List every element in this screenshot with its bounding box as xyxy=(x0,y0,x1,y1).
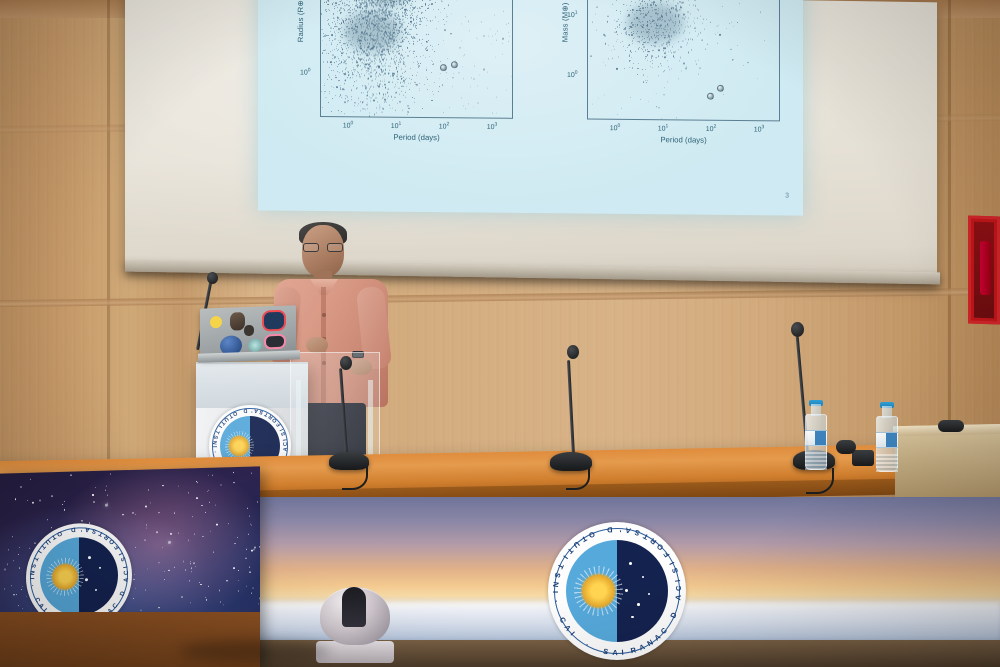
star xyxy=(251,550,253,552)
iac-logo-char: ' xyxy=(81,525,83,532)
star xyxy=(252,588,253,589)
star xyxy=(95,487,96,488)
star xyxy=(20,486,22,488)
iac-logo-char: N xyxy=(211,440,218,445)
glasses-lens-right xyxy=(327,243,343,252)
star xyxy=(219,590,220,591)
star xyxy=(238,590,239,591)
iac-logo-char: S xyxy=(280,431,287,436)
star xyxy=(13,594,14,595)
star xyxy=(207,491,208,492)
star xyxy=(183,561,184,562)
iac-logo-char: T xyxy=(31,556,39,562)
iac-logo-char: F xyxy=(275,421,282,427)
y-tick-left-0: 100 xyxy=(300,67,311,76)
iac-logo-char: S xyxy=(29,563,37,569)
sticker-pink-outline xyxy=(264,334,286,350)
iac-logo-char: D xyxy=(607,525,613,534)
highlighted-planet-marker xyxy=(717,85,724,92)
iac-logo-char: O xyxy=(588,530,597,540)
star xyxy=(237,536,238,537)
iac-logo-char: D xyxy=(71,526,76,533)
iac-logo-char: I xyxy=(673,579,682,582)
star xyxy=(158,512,159,513)
star xyxy=(220,601,221,602)
iac-logo-char: T xyxy=(213,429,220,435)
star xyxy=(92,494,93,495)
star xyxy=(188,540,189,541)
iac-logo-char: · xyxy=(29,584,36,587)
iac-logo-char: I xyxy=(211,446,217,448)
chart-panel-radius: Radius (R⊕) Period (days) 100 101 102 10… xyxy=(276,0,521,163)
iac-logo-char: C xyxy=(674,586,683,591)
star xyxy=(209,502,210,503)
iac-logo-char: O xyxy=(232,410,238,417)
star xyxy=(247,507,248,508)
star xyxy=(188,492,189,493)
iac-logo-char: D xyxy=(243,407,247,413)
iac-logo-char: I xyxy=(28,578,35,580)
star xyxy=(238,580,239,581)
star xyxy=(162,547,163,548)
iac-logo-char: D xyxy=(119,590,127,597)
iac-logo-char: I xyxy=(118,551,125,556)
star xyxy=(251,472,252,473)
star xyxy=(156,531,158,533)
star xyxy=(220,485,221,486)
wall-panel-seam xyxy=(107,0,110,470)
sticker-apple xyxy=(244,325,254,336)
star xyxy=(30,479,31,480)
iac-logo-char: O xyxy=(56,529,63,537)
bottle-label-blue-block xyxy=(815,431,826,445)
iac-logo-char: A xyxy=(283,447,290,452)
star xyxy=(22,608,23,609)
iac-logo-char: S xyxy=(633,528,641,538)
side-desk xyxy=(895,424,1000,506)
star xyxy=(205,597,206,598)
star xyxy=(93,501,94,502)
iac-logo-char: N xyxy=(646,638,655,648)
star xyxy=(134,573,135,574)
star xyxy=(193,562,195,564)
star xyxy=(197,482,198,483)
star xyxy=(233,472,234,473)
star xyxy=(133,579,134,580)
iac-logo-char: I xyxy=(569,630,577,638)
x-tick-left-0: 100 xyxy=(343,120,354,129)
fire-extinguisher-icon xyxy=(980,241,991,295)
iac-logo-char: A xyxy=(624,525,631,535)
iac-logo-char: T xyxy=(642,532,650,542)
iac-logo-char: C xyxy=(283,442,289,446)
iac-logo-char: C xyxy=(659,626,669,636)
star xyxy=(208,490,209,491)
star xyxy=(192,516,193,517)
iac-logo-char: T xyxy=(580,534,588,544)
x-tick-left-1: 101 xyxy=(391,120,402,129)
star xyxy=(233,567,235,569)
star xyxy=(223,605,224,606)
star xyxy=(135,513,136,514)
star xyxy=(148,489,149,490)
iac-logo-char: T xyxy=(39,543,47,550)
star xyxy=(70,475,71,476)
star xyxy=(19,547,20,548)
star xyxy=(245,558,246,559)
star xyxy=(249,566,250,567)
iac-logo-char: I xyxy=(36,549,43,554)
desk-accessory xyxy=(938,420,964,432)
iac-logo-char: · xyxy=(584,640,591,649)
iac-logo-char: T xyxy=(566,546,576,555)
banner-iac-logo: INSTITUTO D'ASTROFISICA D CANARIAS · IAC… xyxy=(548,522,686,660)
x-tick-right-0: 100 xyxy=(610,122,621,131)
star xyxy=(233,482,234,483)
star xyxy=(213,552,214,553)
plot-frame-radius xyxy=(320,0,513,119)
mic-head xyxy=(567,345,579,359)
iac-logo-char: C xyxy=(123,571,130,576)
star xyxy=(158,607,159,608)
star xyxy=(196,497,198,499)
iac-logo-char: · xyxy=(211,451,217,454)
iac-logo-char: R xyxy=(630,645,637,655)
microphone-capsule-case[interactable] xyxy=(836,440,856,454)
star xyxy=(15,499,16,500)
star xyxy=(238,570,239,571)
star xyxy=(190,561,191,562)
iac-logo-char: I xyxy=(621,648,624,657)
star xyxy=(146,524,147,525)
iac-logo-char: F xyxy=(113,543,121,550)
iac-logo-char: I xyxy=(282,439,288,441)
slide-page-number: 3 xyxy=(785,192,789,199)
star xyxy=(22,586,23,587)
y-tick-right-1: 101 xyxy=(567,10,578,19)
sticker-robot-red-ring xyxy=(262,310,286,332)
star xyxy=(200,584,201,585)
y-axis-label-mass: Mass (M⊕) xyxy=(560,2,569,42)
star xyxy=(251,524,252,525)
scatter-points-mass xyxy=(588,0,779,120)
dome-slit xyxy=(342,587,366,627)
star xyxy=(32,501,34,503)
y-tick-right-0: 100 xyxy=(567,70,578,79)
star xyxy=(178,486,179,487)
x-tick-right-3: 103 xyxy=(754,124,765,133)
star xyxy=(246,548,247,549)
star xyxy=(7,564,8,565)
iac-seal: INSTITUTO D'ASTROFISICA D CANARIAS · IAC… xyxy=(548,522,686,660)
scatter-points-radius xyxy=(321,0,512,118)
x-tick-left-2: 102 xyxy=(439,121,450,130)
iac-logo-char: S xyxy=(120,556,128,562)
highlighted-planet-marker xyxy=(451,61,458,68)
star xyxy=(191,568,192,569)
iac-logo-char: A xyxy=(653,632,663,642)
x-axis-label-period-right: Period (days) xyxy=(587,135,780,146)
star xyxy=(4,569,5,570)
iac-logo-char: F xyxy=(662,550,672,559)
iac-logo-char: S xyxy=(552,572,562,579)
star xyxy=(259,546,260,547)
star xyxy=(47,520,48,521)
star xyxy=(110,473,111,474)
photo-scene: Radius (R⊕) Period (days) 100 101 102 10… xyxy=(0,0,1000,667)
water-bottle-2[interactable] xyxy=(876,402,898,472)
star xyxy=(248,533,249,534)
iac-logo-char: N xyxy=(551,581,561,588)
highlighted-planet-marker xyxy=(440,64,447,71)
star xyxy=(168,541,171,544)
star xyxy=(144,540,145,541)
star xyxy=(132,512,134,514)
iac-logo-char: A xyxy=(673,594,683,601)
iac-logo-char: C xyxy=(111,602,119,610)
star xyxy=(11,585,12,586)
iac-logo-char: I xyxy=(667,561,676,567)
star xyxy=(226,580,227,581)
star xyxy=(62,504,63,505)
star xyxy=(146,528,147,529)
star xyxy=(202,536,203,537)
sticker-brain xyxy=(230,312,245,331)
x-tick-left-3: 103 xyxy=(487,121,498,130)
star xyxy=(64,509,65,510)
mic-head xyxy=(340,356,352,370)
star xyxy=(164,571,165,572)
star xyxy=(216,523,218,525)
water-bottle-1[interactable] xyxy=(805,400,827,470)
x-tick-right-1: 101 xyxy=(658,123,669,132)
star xyxy=(206,599,207,600)
y-axis-label-radius: Radius (R⊕) xyxy=(296,0,305,42)
star xyxy=(195,566,196,567)
star xyxy=(135,546,136,547)
star xyxy=(140,610,141,611)
star xyxy=(145,505,147,507)
star xyxy=(19,567,20,568)
star xyxy=(234,543,235,544)
star xyxy=(4,588,5,589)
star xyxy=(246,586,247,587)
iac-logo-char: A xyxy=(612,648,618,657)
star xyxy=(51,495,53,497)
hand-left xyxy=(306,337,328,353)
iac-logo-char: U xyxy=(572,539,582,549)
iac-logo-char: A xyxy=(562,623,572,632)
star xyxy=(133,598,134,599)
star xyxy=(201,505,202,506)
star xyxy=(199,582,200,583)
star xyxy=(81,520,82,521)
iac-logo-char: D xyxy=(668,611,678,620)
star xyxy=(21,589,22,590)
star xyxy=(145,589,146,590)
wall-panel-seam xyxy=(948,0,951,440)
star xyxy=(191,571,192,572)
iac-logo-char: I xyxy=(561,554,570,561)
star xyxy=(16,594,17,595)
star xyxy=(164,579,165,580)
star xyxy=(174,513,175,514)
iac-logo-char: · xyxy=(552,599,561,603)
iac-logo-char: S xyxy=(670,567,680,574)
iac-logo-char: A xyxy=(123,577,131,582)
iac-logo-char: O xyxy=(655,542,666,552)
star xyxy=(162,485,163,486)
iac-circular-text: INSTITUTO D'ASTROFISICA D CANARIAS · IAC… xyxy=(548,522,686,660)
star xyxy=(150,502,151,503)
star xyxy=(107,494,108,495)
star xyxy=(254,547,256,549)
projected-slide: Radius (R⊕) Period (days) 100 101 102 10… xyxy=(258,0,803,216)
star xyxy=(181,596,182,597)
star xyxy=(13,560,14,561)
fire-extinguisher-cabinet[interactable] xyxy=(968,215,1000,324)
star xyxy=(257,501,258,502)
podium-shadow xyxy=(180,640,330,662)
shirt-button xyxy=(322,313,326,317)
iac-logo-char: I xyxy=(122,566,129,569)
sticker-yellow-circle xyxy=(210,316,222,328)
star xyxy=(170,533,172,535)
chart-panel-mass: Mass (M⊕) Period (days) 100 101 102 103 … xyxy=(543,0,788,165)
iac-logo-char: ' xyxy=(619,525,621,534)
star xyxy=(18,605,19,606)
presentation-remote[interactable] xyxy=(852,450,874,466)
iac-logo-char: U xyxy=(44,537,52,545)
star xyxy=(135,588,136,589)
star xyxy=(39,499,41,501)
star xyxy=(190,602,191,603)
star xyxy=(258,603,259,604)
star xyxy=(168,570,169,571)
bottle-label-blue-block xyxy=(886,433,897,447)
star xyxy=(212,475,213,476)
star xyxy=(210,531,211,532)
star xyxy=(147,568,148,569)
star xyxy=(64,500,65,501)
star xyxy=(122,514,123,515)
iac-logo-char: A xyxy=(84,526,90,534)
star xyxy=(208,585,209,586)
bottle-ridges xyxy=(805,452,827,470)
star xyxy=(178,532,179,533)
plot-frame-mass xyxy=(587,0,780,121)
iac-logo-char: S xyxy=(91,527,97,535)
iac-logo-char: S xyxy=(212,435,219,440)
star xyxy=(228,523,229,524)
star xyxy=(205,512,206,513)
star xyxy=(249,516,250,517)
bottle-ridges xyxy=(876,454,898,472)
star xyxy=(208,475,209,476)
glasses-icon xyxy=(303,243,343,252)
iac-logo-char: C xyxy=(558,616,568,625)
iac-logo-char: S xyxy=(602,647,609,657)
star xyxy=(106,485,107,486)
mic-head xyxy=(791,322,804,337)
star xyxy=(259,598,260,599)
star xyxy=(249,572,250,573)
x-tick-right-2: 102 xyxy=(706,123,717,132)
star xyxy=(194,534,195,535)
star xyxy=(189,580,190,581)
star xyxy=(8,549,9,550)
iac-logo-char: I xyxy=(551,591,560,593)
star xyxy=(18,554,19,555)
iac-logo-char: A xyxy=(638,642,646,652)
x-axis-label-period-left: Period (days) xyxy=(320,132,513,143)
mic-head xyxy=(207,272,218,284)
star xyxy=(174,566,175,567)
star xyxy=(215,505,216,506)
star xyxy=(158,562,159,563)
sticker-teal-snowflake xyxy=(248,339,262,352)
star xyxy=(12,536,13,537)
iac-logo-char: T xyxy=(556,562,566,570)
glasses-lens-left xyxy=(303,243,319,252)
star xyxy=(251,592,252,593)
star xyxy=(190,563,191,564)
star xyxy=(27,499,28,500)
highlighted-planet-marker xyxy=(707,93,714,100)
star xyxy=(185,569,186,570)
star xyxy=(105,489,106,490)
iac-logo-char: N xyxy=(28,570,36,575)
